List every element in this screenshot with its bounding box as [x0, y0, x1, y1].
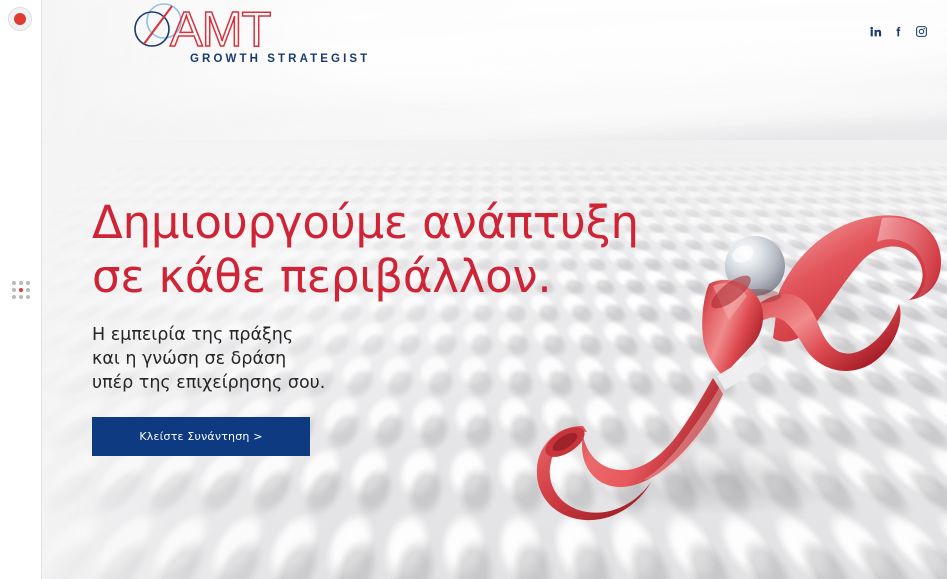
browser-page: AMT GROWTH STRATEGIST: [0, 0, 947, 579]
grid-dot: [19, 295, 23, 299]
left-tool-rail: [0, 0, 42, 579]
logo-wordmark: AMT: [170, 3, 271, 57]
grid-dot: [12, 281, 16, 285]
book-meeting-button[interactable]: Κλείστε Συνάντηση >: [92, 417, 310, 456]
grid-dot: [26, 295, 30, 299]
record-dot-icon: [14, 13, 26, 25]
hero-subheadline: Η εμπειρία της πράξης και η γνώση σε δρά…: [92, 323, 692, 395]
apps-grid-icon[interactable]: [11, 280, 31, 300]
logo-tagline: GROWTH STRATEGIST: [190, 53, 370, 65]
hero-section: Δημιουργούμε ανάπτυξη σε κάθε περιβάλλον…: [92, 196, 692, 456]
amt-logo[interactable]: AMT GROWTH STRATEGIST: [104, 2, 384, 70]
linkedin-icon[interactable]: [868, 24, 883, 39]
facebook-icon[interactable]: [891, 24, 906, 39]
website-canvas: AMT GROWTH STRATEGIST: [42, 0, 947, 579]
social-links: [868, 24, 929, 39]
grid-dot: [19, 281, 23, 285]
hero-headline: Δημιουργούμε ανάπτυξη σε κάθε περιβάλλον…: [92, 196, 692, 304]
grid-dot: [12, 288, 16, 292]
grid-dot: [26, 281, 30, 285]
record-button[interactable]: [8, 7, 32, 31]
grid-dot: [12, 295, 16, 299]
grid-dot: [26, 288, 30, 292]
instagram-icon[interactable]: [914, 24, 929, 39]
grid-dot-center: [19, 288, 23, 292]
site-header: AMT GROWTH STRATEGIST: [42, 0, 947, 70]
